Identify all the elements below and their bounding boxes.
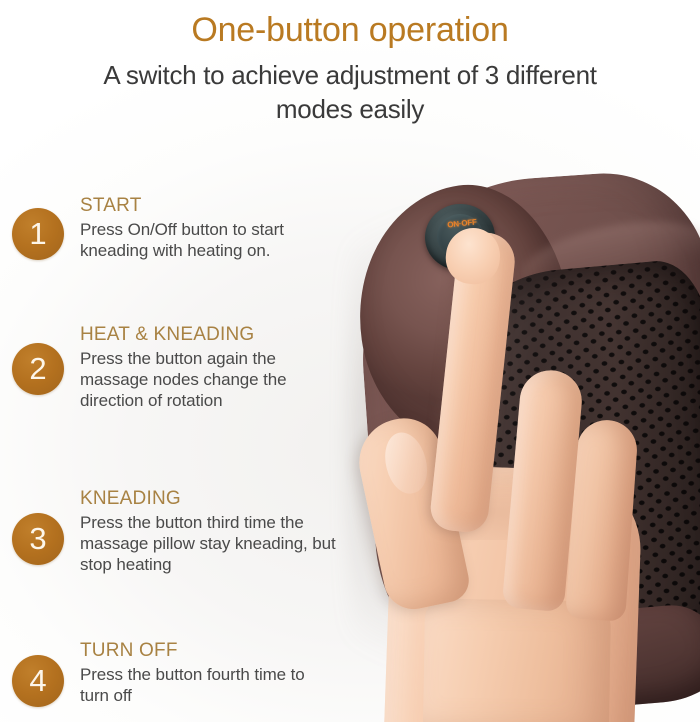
step-description-4: Press the button fourth time to turn off xyxy=(80,664,336,706)
step-item-4: 4 TURN OFF Press the button fourth time … xyxy=(0,637,360,707)
heading-block: One-button operation A switch to achieve… xyxy=(0,8,700,126)
page-title: One-button operation xyxy=(0,8,700,52)
step-label-1: START xyxy=(80,194,336,218)
step-text-2: HEAT & KNEADING Press the button again t… xyxy=(80,321,336,411)
step-description-1: Press On/Off button to start kneading wi… xyxy=(80,219,336,261)
product-infographic: ON·OFF One-button operation A switch to … xyxy=(0,0,700,722)
step-text-3: KNEADING Press the button third time the… xyxy=(80,485,336,575)
step-label-2: HEAT & KNEADING xyxy=(80,323,336,347)
step-item-1: 1 START Press On/Off button to start kne… xyxy=(0,192,360,261)
step-item-2: 2 HEAT & KNEADING Press the button again… xyxy=(0,321,360,411)
step-number-badge-4: 4 xyxy=(12,655,64,707)
steps-list: 1 START Press On/Off button to start kne… xyxy=(0,180,360,707)
step-description-3: Press the button third time the massage … xyxy=(80,512,336,575)
step-number-badge-1: 1 xyxy=(12,208,64,260)
step-item-3: 3 KNEADING Press the button third time t… xyxy=(0,485,360,575)
step-label-3: KNEADING xyxy=(80,487,336,511)
step-number-badge-3: 3 xyxy=(12,513,64,565)
page-subtitle: A switch to achieve adjustment of 3 diff… xyxy=(0,58,700,126)
step-label-4: TURN OFF xyxy=(80,639,336,663)
step-number-badge-2: 2 xyxy=(12,343,64,395)
step-text-1: START Press On/Off button to start knead… xyxy=(80,192,336,261)
step-text-4: TURN OFF Press the button fourth time to… xyxy=(80,637,336,706)
step-description-2: Press the button again the massage nodes… xyxy=(80,348,336,411)
